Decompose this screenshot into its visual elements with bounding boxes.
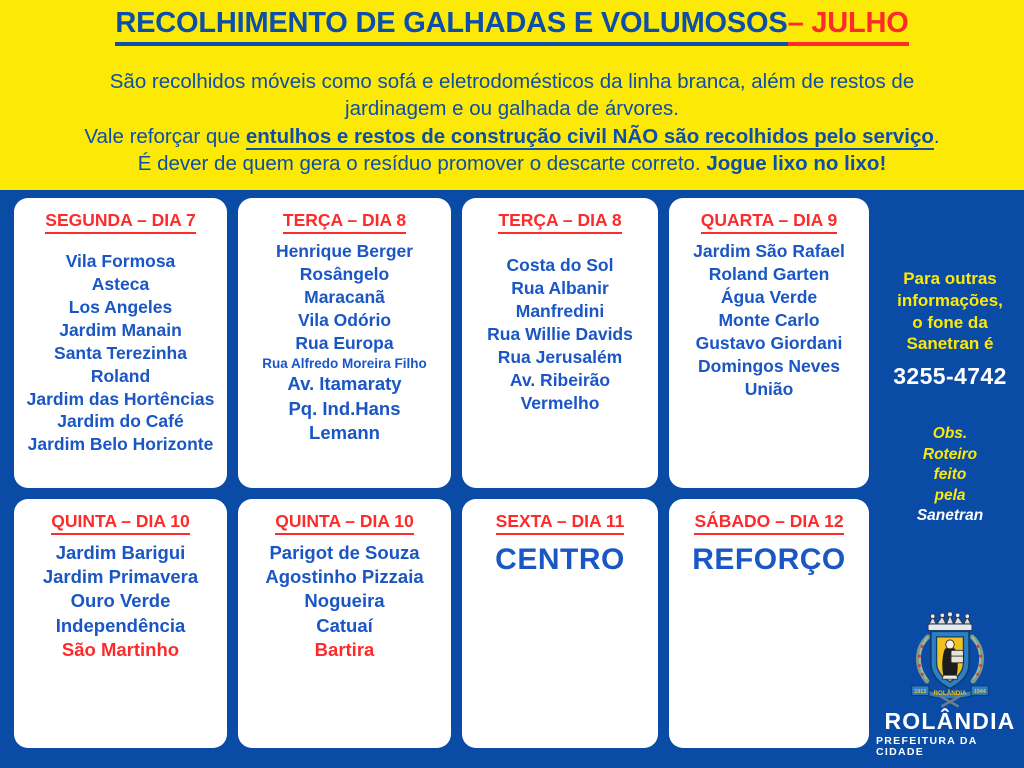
contact-info-line-3: o fone da <box>876 312 1024 334</box>
header-description: São recolhidos móveis como sofá e eletro… <box>12 68 1012 178</box>
contact-phone-number[interactable]: 3255-4742 <box>876 363 1024 390</box>
location-item: Santa Terezinha <box>20 342 221 365</box>
day-card-title: QUARTA – DIA 9 <box>701 210 837 234</box>
description-line-3: Vale reforçar que entulhos e restos de c… <box>12 123 1012 150</box>
location-item: Pq. Ind.Hans <box>244 397 445 421</box>
location-item: Agostinho Pizzaia <box>244 565 445 589</box>
day-card: QUINTA – DIA 10Parigot de SouzaAgostinho… <box>238 499 451 748</box>
location-item: Rosângelo <box>244 263 445 286</box>
contact-info-line-1: Para outras <box>876 268 1024 290</box>
day-card: SÁBADO – DIA 12REFORÇO <box>669 499 869 748</box>
location-item: CENTRO <box>468 541 652 579</box>
location-item: Bartira <box>244 638 445 662</box>
description-line-3-suffix: . <box>934 125 940 148</box>
location-item: Jardim Barigui <box>20 541 221 565</box>
location-item: União <box>675 378 863 401</box>
location-item: Nogueira <box>244 589 445 613</box>
location-item: Jardim das Hortências <box>20 388 221 411</box>
crest-banner-text: ROLÂNDIA <box>934 690 967 697</box>
location-item: Av. Ribeirão <box>468 369 652 392</box>
day-card: SEXTA – DIA 11CENTRO <box>462 499 658 748</box>
observation-line-5: Sanetran <box>876 506 1024 527</box>
location-item: Domingos Neves <box>675 355 863 378</box>
description-line-1: São recolhidos móveis como sofá e eletro… <box>12 68 1012 95</box>
page-title: RECOLHIMENTO DE GALHADAS E VOLUMOSOS – J… <box>115 8 908 46</box>
location-item: Jardim do Café <box>20 410 221 433</box>
day-card-title: QUINTA – DIA 10 <box>275 511 413 535</box>
day-card-title: QUINTA – DIA 10 <box>51 511 189 535</box>
location-item: Jardim São Rafael <box>675 240 863 263</box>
contact-info-line-2: informações, <box>876 290 1024 312</box>
location-item: Maracanã <box>244 286 445 309</box>
location-item: Roland Garten <box>675 263 863 286</box>
city-tagline: PREFEITURA DA CIDADE <box>876 736 1024 757</box>
location-item: Rua Europa <box>244 332 445 355</box>
location-item: Manfredini <box>468 300 652 323</box>
location-item: Rua Jerusalém <box>468 346 652 369</box>
location-item: Rua Alfredo Moreira Filho <box>244 355 445 373</box>
day-card-location-list: Jardim BariguiJardim PrimaveraOuro Verde… <box>20 541 221 662</box>
observation-block: Obs. Roteiro feito pela Sanetran <box>876 424 1024 527</box>
day-card-location-list: CENTRO <box>468 541 652 579</box>
day-card-location-list: REFORÇO <box>675 541 863 579</box>
location-item: Asteca <box>20 273 221 296</box>
day-card-title: SÁBADO – DIA 12 <box>694 511 843 535</box>
day-card-title: SEGUNDA – DIA 7 <box>45 210 195 234</box>
day-card-location-list: Parigot de SouzaAgostinho PizzaiaNogueir… <box>244 541 445 662</box>
city-logo: ROLÂNDIA 1913 1944 ROLÂNDIA PREFEITURA D… <box>876 608 1024 763</box>
description-line-3-prefix: Vale reforçar que <box>84 125 245 148</box>
crest-year-right: 1944 <box>974 689 986 695</box>
location-item: Henrique Berger <box>244 240 445 263</box>
location-item: Los Angeles <box>20 296 221 319</box>
location-item: Parigot de Souza <box>244 541 445 565</box>
description-line-4-prefix: É dever de quem gera o resíduo promover … <box>138 152 707 175</box>
location-item: Vila Odório <box>244 309 445 332</box>
location-item: Monte Carlo <box>675 309 863 332</box>
description-line-4: É dever de quem gera o resíduo promover … <box>12 150 1012 177</box>
location-item: Roland <box>20 365 221 388</box>
description-line-2: jardinagem e ou galhada de árvores. <box>12 95 1012 122</box>
location-item: Água Verde <box>675 286 863 309</box>
description-line-4-emphasis: Jogue lixo no lixo! <box>706 152 886 175</box>
observation-line-2: Roteiro <box>876 445 1024 466</box>
location-item: Vila Formosa <box>20 250 221 273</box>
location-item: Rua Albanir <box>468 277 652 300</box>
contact-info-line-4: Sanetran é <box>876 333 1024 355</box>
day-card-title: TERÇA – DIA 8 <box>283 210 406 234</box>
location-item: Catuaí <box>244 614 445 638</box>
location-item: Jardim Primavera <box>20 565 221 589</box>
location-item: Av. Itamaraty <box>244 372 445 396</box>
day-card: QUINTA – DIA 10Jardim BariguiJardim Prim… <box>14 499 227 748</box>
schedule-grid: SEGUNDA – DIA 7Vila FormosaAstecaLos Ang… <box>14 198 869 748</box>
observation-line-4: pela <box>876 486 1024 507</box>
header-banner: RECOLHIMENTO DE GALHADAS E VOLUMOSOS – J… <box>0 0 1024 190</box>
rolandia-coat-of-arms-icon: ROLÂNDIA 1913 1944 <box>902 608 998 708</box>
day-card-location-list: Jardim São RafaelRoland GartenÁgua Verde… <box>675 240 863 400</box>
crest-year-left: 1913 <box>914 689 926 695</box>
location-item: Gustavo Giordani <box>675 332 863 355</box>
day-card-title: SEXTA – DIA 11 <box>496 511 625 535</box>
location-item: Vermelho <box>468 392 652 415</box>
page-title-main: RECOLHIMENTO DE GALHADAS E VOLUMOSOS <box>115 8 787 46</box>
day-card: SEGUNDA – DIA 7Vila FormosaAstecaLos Ang… <box>14 198 227 488</box>
location-item: Lemann <box>244 421 445 445</box>
location-item: Ouro Verde <box>20 589 221 613</box>
location-item: Independência <box>20 614 221 638</box>
location-item: Costa do Sol <box>468 254 652 277</box>
city-name: ROLÂNDIA <box>885 710 1016 733</box>
day-card-location-list: Vila FormosaAstecaLos AngelesJardim Mana… <box>20 250 221 456</box>
location-item: Jardim Manain <box>20 319 221 342</box>
description-line-3-emphasis: entulhos e restos de construção civil NÃ… <box>246 125 934 150</box>
day-card: TERÇA – DIA 8Costa do SolRua AlbanirManf… <box>462 198 658 488</box>
location-item: REFORÇO <box>675 541 863 579</box>
location-item: Rua Willie Davids <box>468 323 652 346</box>
day-card-location-list: Costa do SolRua AlbanirManfrediniRua Wil… <box>468 254 652 414</box>
day-card-location-list: Henrique BergerRosângeloMaracanãVila Odó… <box>244 240 445 445</box>
day-card: TERÇA – DIA 8Henrique BergerRosângeloMar… <box>238 198 451 488</box>
contact-info-block: Para outras informações, o fone da Sanet… <box>876 268 1024 355</box>
day-card-title: TERÇA – DIA 8 <box>498 210 621 234</box>
observation-line-3: feito <box>876 465 1024 486</box>
observation-line-1: Obs. <box>876 424 1024 445</box>
location-item: Jardim Belo Horizonte <box>20 433 221 456</box>
location-item: São Martinho <box>20 638 221 662</box>
day-card: QUARTA – DIA 9Jardim São RafaelRoland Ga… <box>669 198 869 488</box>
page-title-month: – JULHO <box>788 8 909 46</box>
